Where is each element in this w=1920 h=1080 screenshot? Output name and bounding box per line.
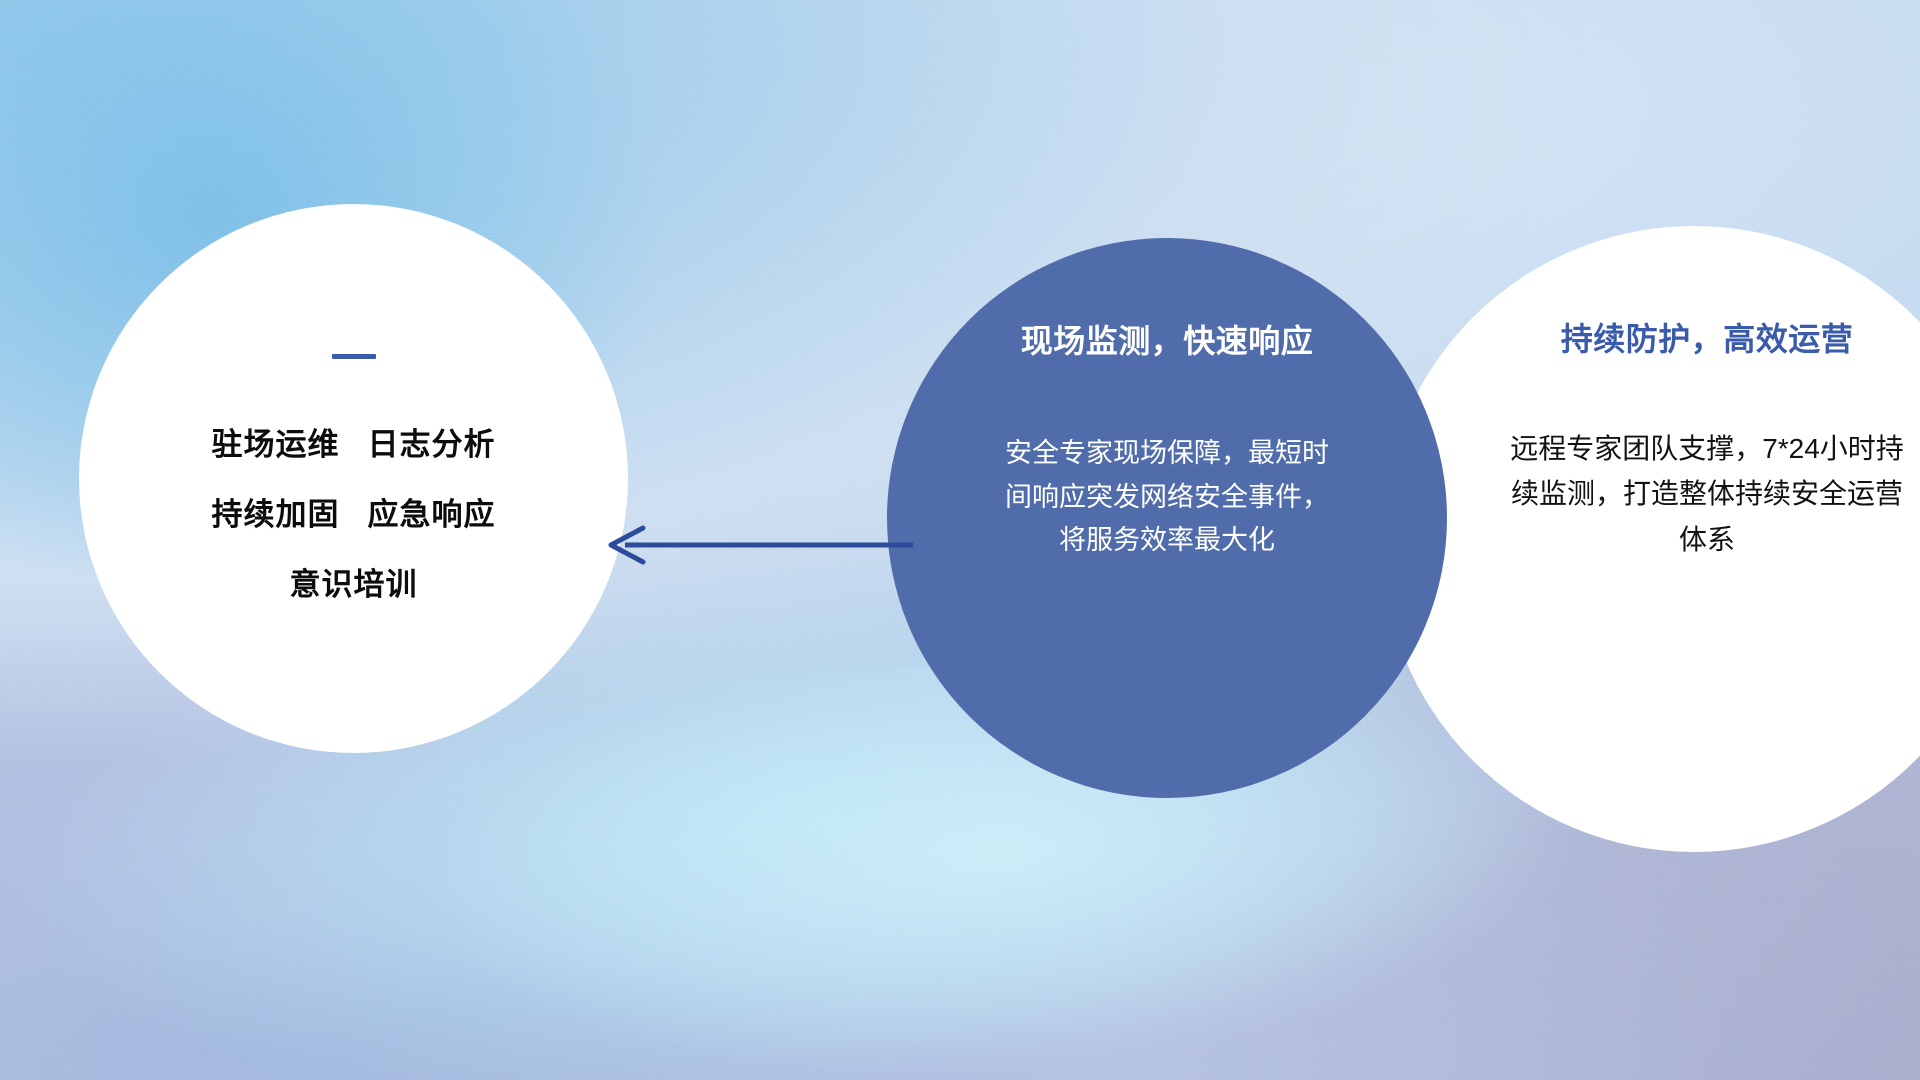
right-circle-content: 持续防护，高效运营 远程专家团队支撑，7*24小时持续监测，打造整体持续安全运营… [1381, 226, 1920, 852]
capability-label: 驻场运维 [212, 427, 340, 462]
capability-row: 持续加固应急响应 [212, 489, 496, 534]
left-capability-circle: 驻场运维日志分析 持续加固应急响应 意识培训 [79, 204, 628, 753]
capability-label: 持续加固 [212, 497, 340, 532]
center-circle-content: 现场监测，快速响应 安全专家现场保障，最短时间响应突发网络安全事件，将服务效率最… [887, 238, 1447, 798]
left-circle-content: 驻场运维日志分析 持续加固应急响应 意识培训 [79, 204, 628, 753]
capability-label: 日志分析 [368, 427, 496, 462]
center-circle-title: 现场监测，快速响应 [1021, 316, 1314, 362]
right-circle-body: 远程专家团队支撑，7*24小时持续监测，打造整体持续安全运营体系 [1507, 426, 1907, 562]
center-monitoring-circle: 现场监测，快速响应 安全专家现场保障，最短时间响应突发网络安全事件，将服务效率最… [887, 238, 1447, 798]
center-circle-body: 安全专家现场保障，最短时间响应突发网络安全事件，将服务效率最大化 [1002, 432, 1332, 563]
flow-arrow-icon [595, 515, 915, 575]
capability-label: 应急响应 [368, 497, 496, 532]
capability-row: 意识培训 [290, 559, 418, 604]
capability-label: 意识培训 [290, 567, 418, 602]
divider-dash [332, 354, 376, 359]
right-circle-title: 持续防护，高效运营 [1561, 314, 1854, 360]
right-protection-circle: 持续防护，高效运营 远程专家团队支撑，7*24小时持续监测，打造整体持续安全运营… [1381, 226, 1920, 852]
capability-list: 驻场运维日志分析 持续加固应急响应 意识培训 [212, 419, 496, 604]
capability-row: 驻场运维日志分析 [212, 419, 496, 464]
